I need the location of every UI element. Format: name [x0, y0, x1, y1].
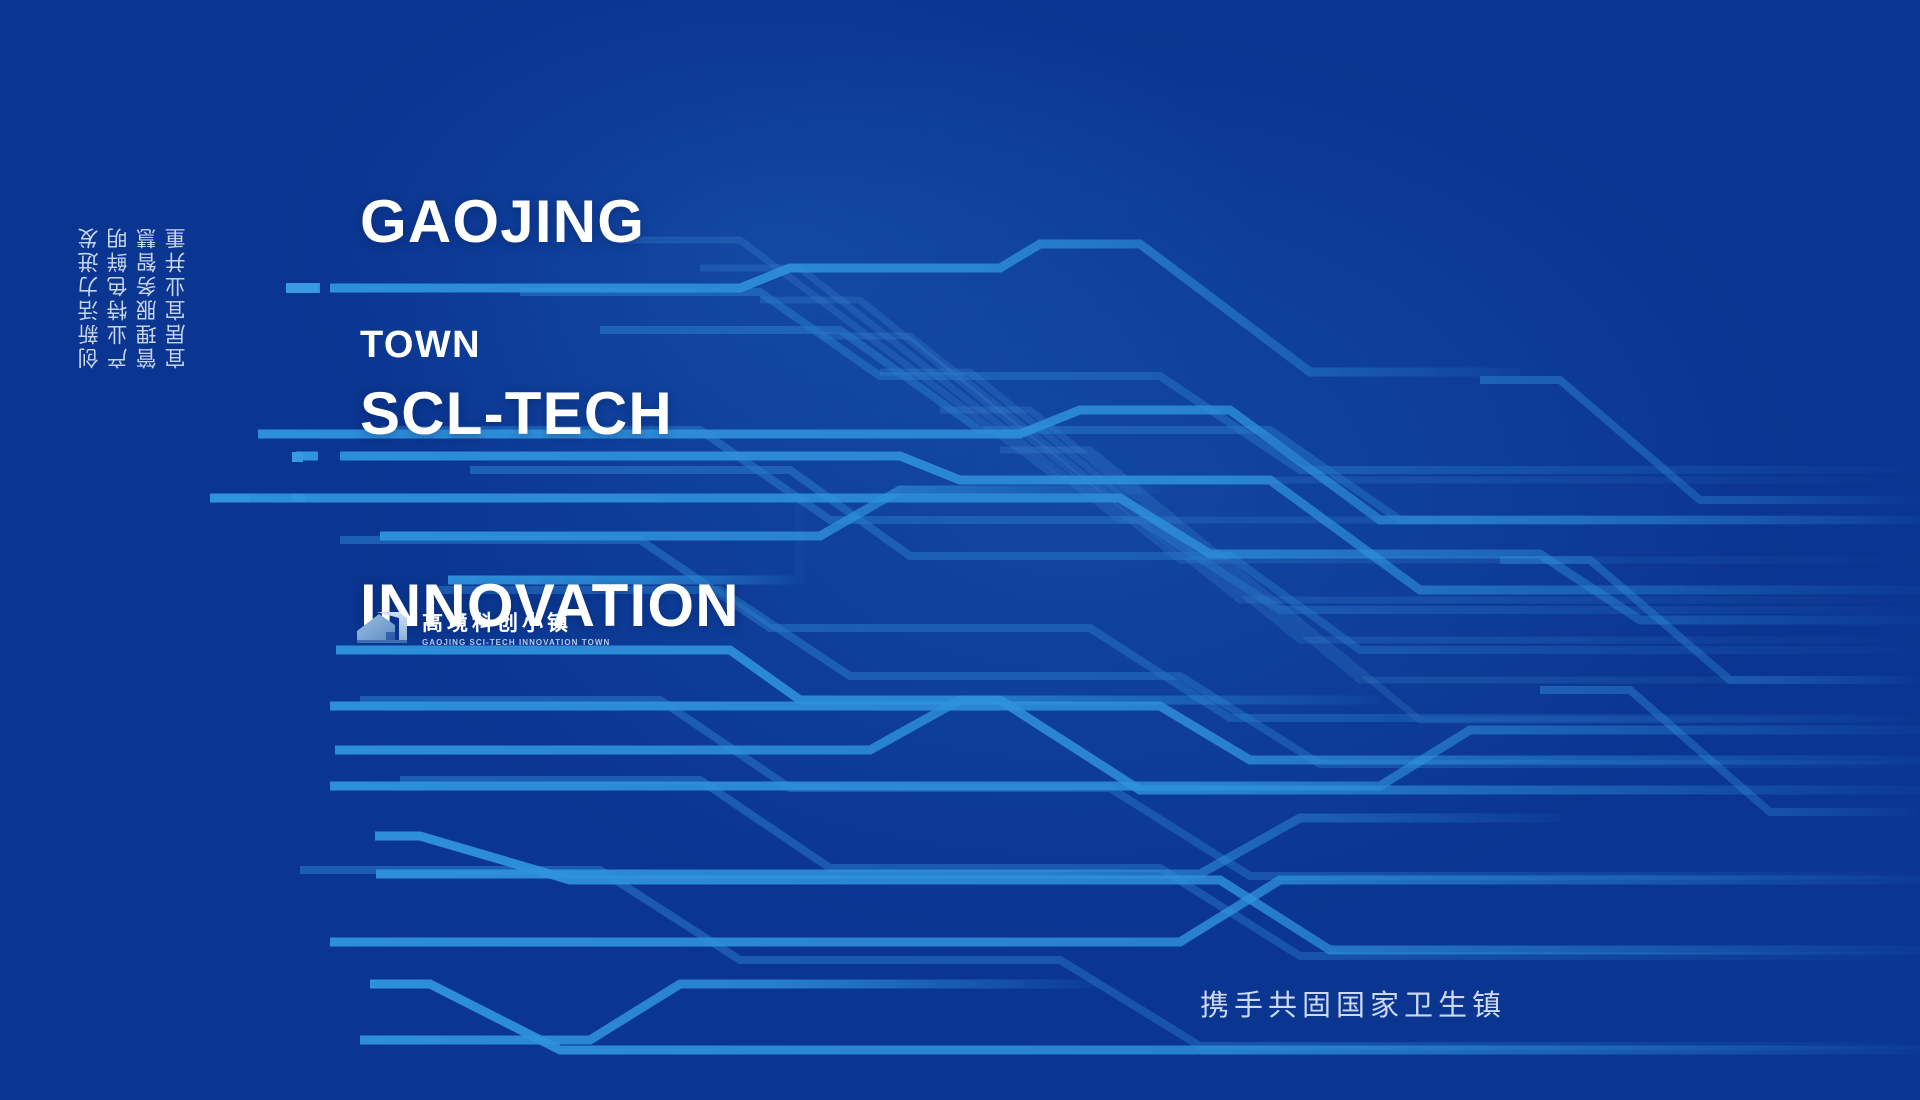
bottom-slogan-line-1: 携手共固国家卫生镇: [1200, 984, 1506, 1027]
headline-line-1: GAOJING: [360, 190, 740, 254]
logo-lockup: 高境科创小镇 GAOJING SCI-TECH INNOVATION TOWN: [355, 606, 610, 648]
vertical-slogan-column-2: 产业特色鲜明: [107, 225, 129, 369]
page-title: GAOJING SCL-TECH INNOVATION: [360, 62, 740, 766]
headline-line-4: TOWN: [360, 324, 481, 367]
vertical-slogan-column-4: 宜居宜业并重: [165, 225, 187, 369]
poster-canvas: GAOJING SCL-TECH INNOVATION TOWN 创新活力迸发 …: [0, 0, 1920, 1100]
vertical-slogan-column-3: 管理服务智慧: [136, 225, 158, 369]
vertical-slogan: 创新活力迸发 产业特色鲜明 管理服务智慧 宜居宜业并重: [78, 225, 187, 369]
bottom-slogan: 携手共固国家卫生镇 齐心同建科创高境: [1200, 898, 1506, 1100]
house-building-icon: [355, 606, 411, 648]
logo-text-block: 高境科创小镇 GAOJING SCI-TECH INNOVATION TOWN: [422, 607, 610, 647]
logo-chinese-name: 高境科创小镇: [422, 607, 610, 637]
vertical-slogan-column-1: 创新活力迸发: [78, 225, 100, 369]
circuit-trace-background: [0, 0, 1920, 1100]
headline-line-2: SCL-TECH: [360, 382, 740, 446]
logo-english-name: GAOJING SCI-TECH INNOVATION TOWN: [422, 638, 610, 647]
